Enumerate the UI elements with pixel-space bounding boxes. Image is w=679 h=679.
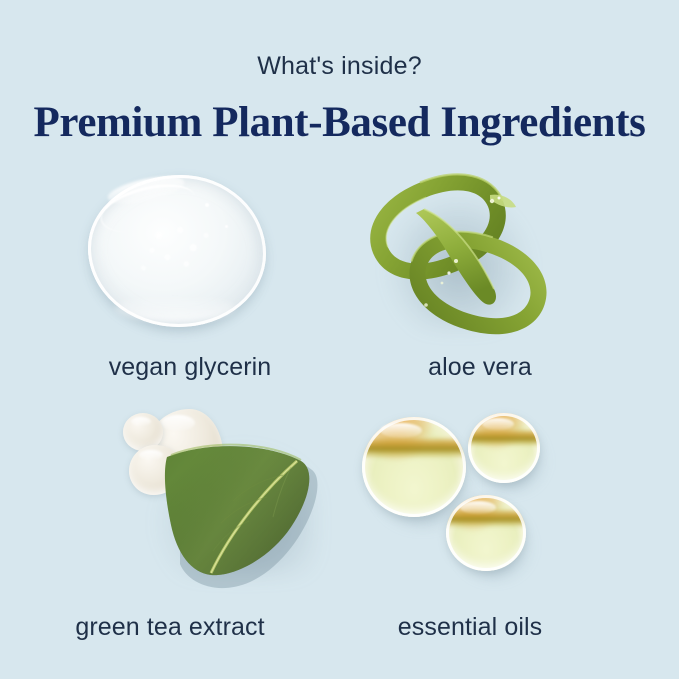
oil-droplets-icon <box>356 405 566 590</box>
oil-highlight <box>380 423 422 438</box>
aloe-vera-art <box>330 165 630 345</box>
ingredient-label-essential-oils: essential oils <box>320 613 620 642</box>
vegan-glycerin-art <box>40 165 340 345</box>
ingredient-card-green-tea-extract: green tea extract <box>20 395 320 642</box>
ingredient-grid: vegan glycerin <box>0 165 679 665</box>
glycerin-droplet-icon <box>85 173 270 333</box>
ingredient-card-vegan-glycerin: vegan glycerin <box>40 165 340 382</box>
ingredients-infographic: What's inside? Premium Plant-Based Ingre… <box>0 0 679 679</box>
page-title: Premium Plant-Based Ingredients <box>0 98 679 147</box>
glycerin-speck <box>205 203 209 207</box>
ingredient-label-aloe-vera: aloe vera <box>330 353 630 382</box>
aloe-leaf-svg <box>366 165 556 345</box>
green-tea-leaf-icon <box>115 405 335 590</box>
glycerin-speck <box>225 225 228 228</box>
ingredient-card-essential-oils: essential oils <box>320 395 620 642</box>
ingredient-label-green-tea-extract: green tea extract <box>20 613 320 642</box>
essential-oils-art <box>320 395 620 575</box>
green-tea-extract-art <box>20 395 320 575</box>
eyebrow-text: What's inside? <box>0 52 679 81</box>
ingredient-label-vegan-glycerin: vegan glycerin <box>40 353 340 382</box>
oil-highlight <box>460 501 496 514</box>
tea-leaf-svg <box>115 405 335 590</box>
ingredient-card-aloe-vera: aloe vera <box>330 165 630 382</box>
glycerin-bottom-sheen <box>115 295 235 321</box>
aloe-leaf-icon <box>366 165 556 345</box>
oil-highlight <box>482 418 514 430</box>
